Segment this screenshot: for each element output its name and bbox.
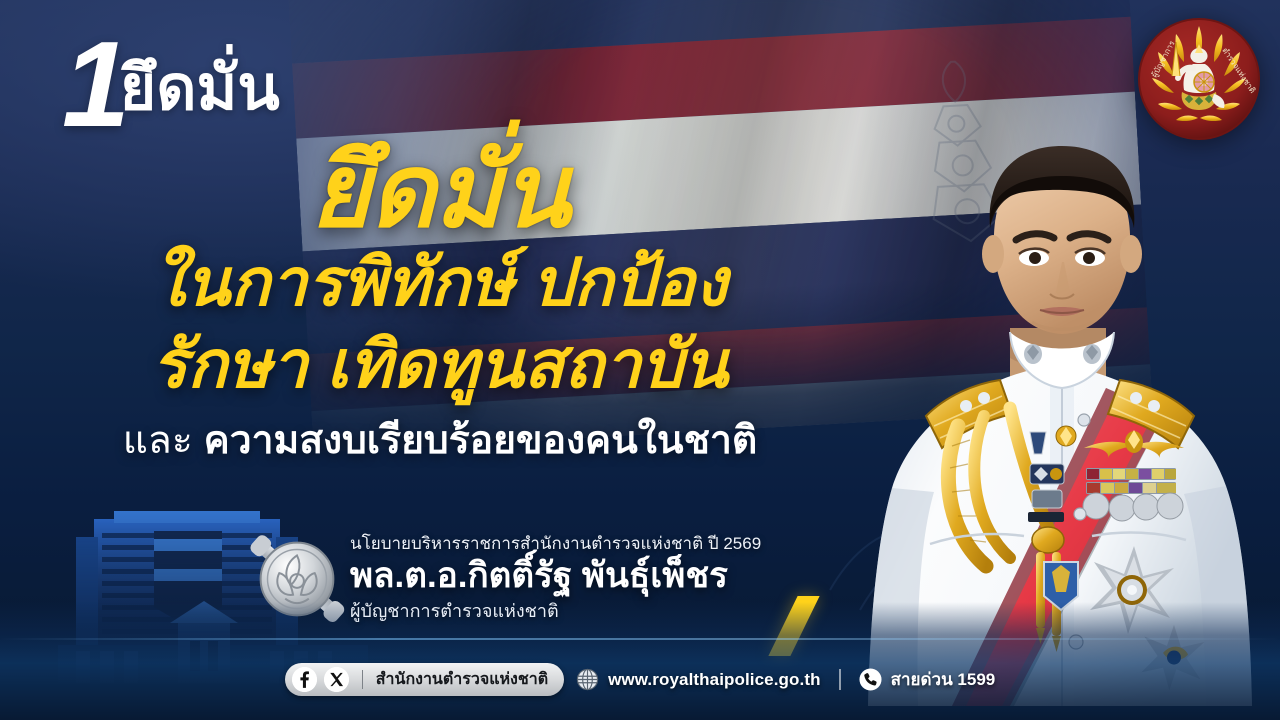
kicker-heading: 1 ยึดมั่น [62, 28, 280, 140]
headline-block: ยึดมั่น ในการพิทักษ์ ปกป้อง รักษา เทิดทู… [0, 140, 880, 465]
headline-line-1: ยึดมั่น [0, 140, 880, 242]
social-divider [362, 670, 363, 689]
kicker-number: 1 [62, 28, 124, 140]
silver-shield-baton-medal [238, 520, 356, 638]
website-url[interactable]: www.royalthaipolice.go.th [608, 670, 821, 690]
headline-line-4-lead: และ [123, 419, 204, 462]
credit-block: นโยบายบริหารราชการสำนักงานตำรวจแห่งชาติ … [350, 533, 820, 622]
poster-root: 1 ยึดมั่น ยึดมั่น ในการพิทักษ์ ปกป้อง รั… [0, 0, 1280, 720]
globe-icon [576, 668, 599, 691]
hotline-number[interactable]: สายด่วน 1599 [891, 666, 996, 693]
organisation-name: สำนักงานตำรวจแห่งชาติ [376, 667, 548, 692]
phone-icon [859, 668, 882, 691]
headline-line-4: และ ความสงบเรียบร้อยของคนในชาติ [0, 418, 880, 465]
royal-thai-police-emblem: ผู้บัญชาการ ตำรวจแห่งชาติ [1136, 16, 1262, 142]
commissioner-role: ผู้บัญชาการตำรวจแห่งชาติ [350, 600, 820, 623]
kicker-word: ยึดมั่น [120, 58, 280, 120]
headline-line-4-bold: ความสงบเรียบร้อยของคนในชาติ [204, 419, 758, 462]
contact-group: www.royalthaipolice.go.th สายด่วน 1599 [576, 666, 995, 693]
facebook-icon[interactable] [292, 667, 317, 692]
headline-line-3: รักษา เทิดทูนสถาบัน [0, 326, 880, 404]
x-twitter-icon[interactable] [324, 667, 349, 692]
contact-divider [839, 669, 841, 690]
footer-bar: สำนักงานตำรวจแห่งชาติ www.royalthaipolic… [0, 663, 1280, 696]
social-pill: สำนักงานตำรวจแห่งชาติ [285, 663, 564, 696]
headline-line-2: ในการพิทักษ์ ปกป้อง [0, 244, 880, 322]
policy-line: นโยบายบริหารราชการสำนักงานตำรวจแห่งชาติ … [350, 533, 820, 554]
police-commissioner-portrait [834, 96, 1280, 706]
commissioner-name: พล.ต.อ.กิตติ์รัฐ พันธุ์เพ็ชร [350, 555, 820, 598]
